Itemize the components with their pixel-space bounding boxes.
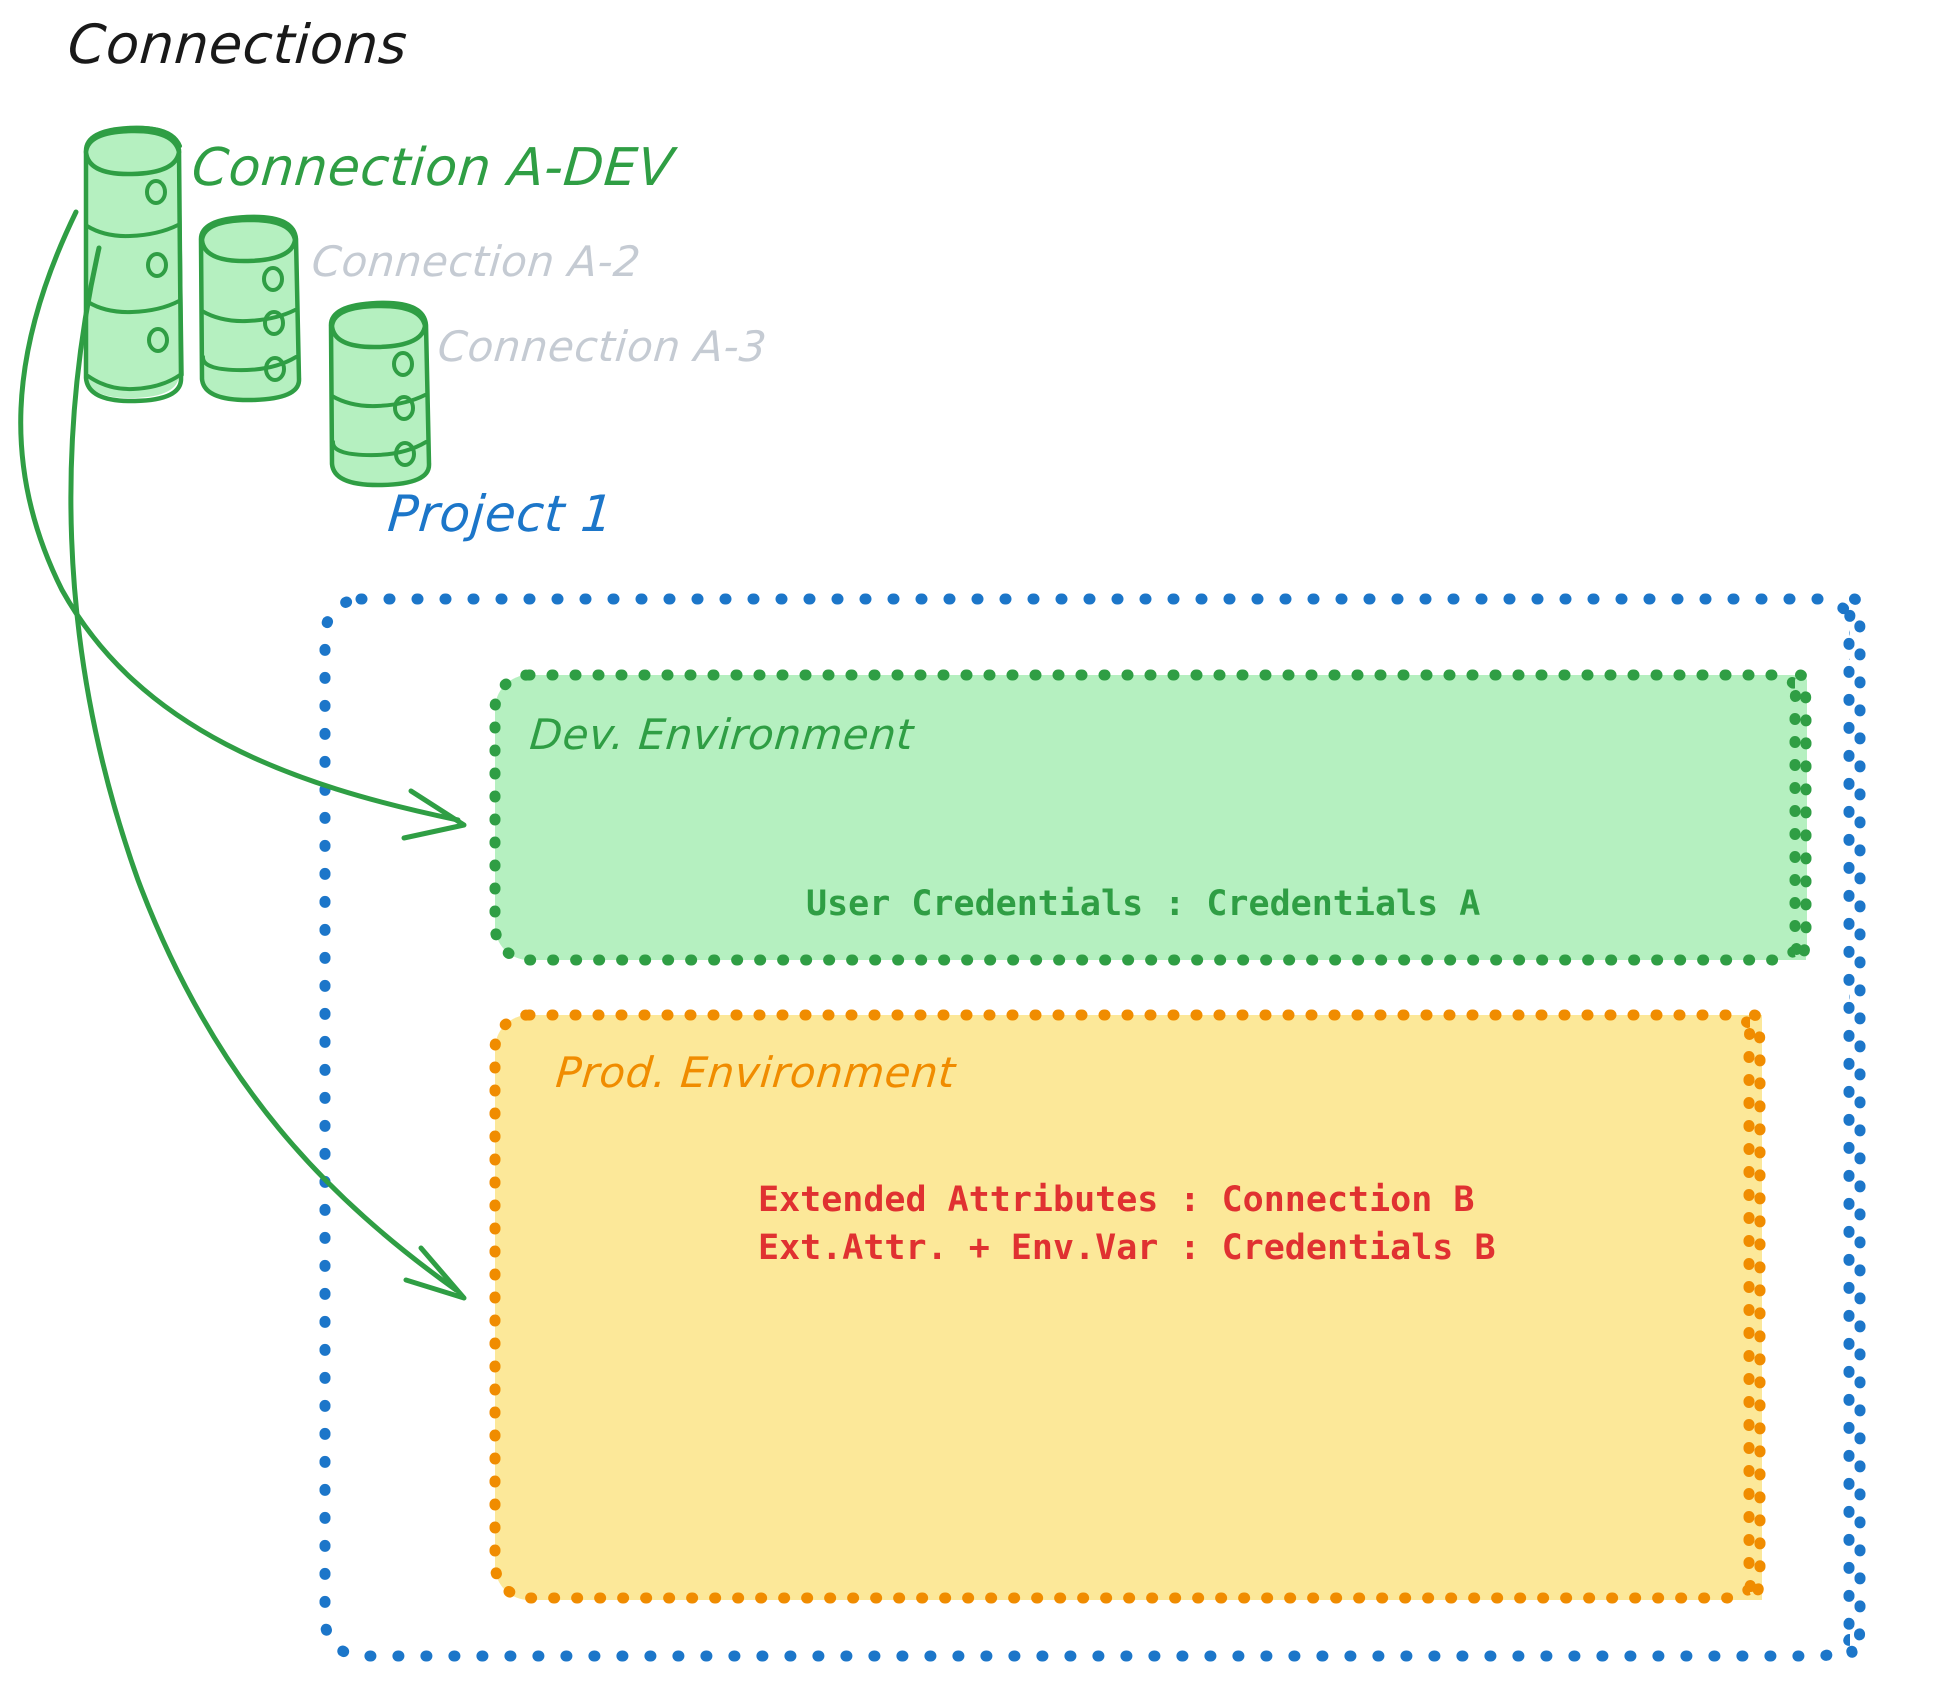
prod-environment-extended-attributes-line: Extended Attributes : Connection B	[758, 1180, 1474, 1220]
prod-environment-env-var-line: Ext.Attr. + Env.Var : Credentials B	[758, 1228, 1496, 1268]
project-title: Project 1	[385, 486, 615, 544]
dev-environment-title: Dev. Environment	[528, 711, 916, 759]
dev-environment-credentials-line: User Credentials : Credentials A	[806, 884, 1480, 924]
connection-label-a-3[interactable]: Connection A-3	[436, 323, 769, 371]
page-title: Connections	[66, 14, 410, 76]
connection-label-a-2[interactable]: Connection A-2	[310, 238, 643, 286]
connection-label-a-dev[interactable]: Connection A-DEV	[189, 139, 676, 199]
labels-layer: Connections Connection A-DEV Connection …	[0, 0, 1938, 1691]
diagram-canvas: Connections Connection A-DEV Connection …	[0, 0, 1938, 1691]
prod-environment-title: Prod. Environment	[554, 1049, 957, 1097]
